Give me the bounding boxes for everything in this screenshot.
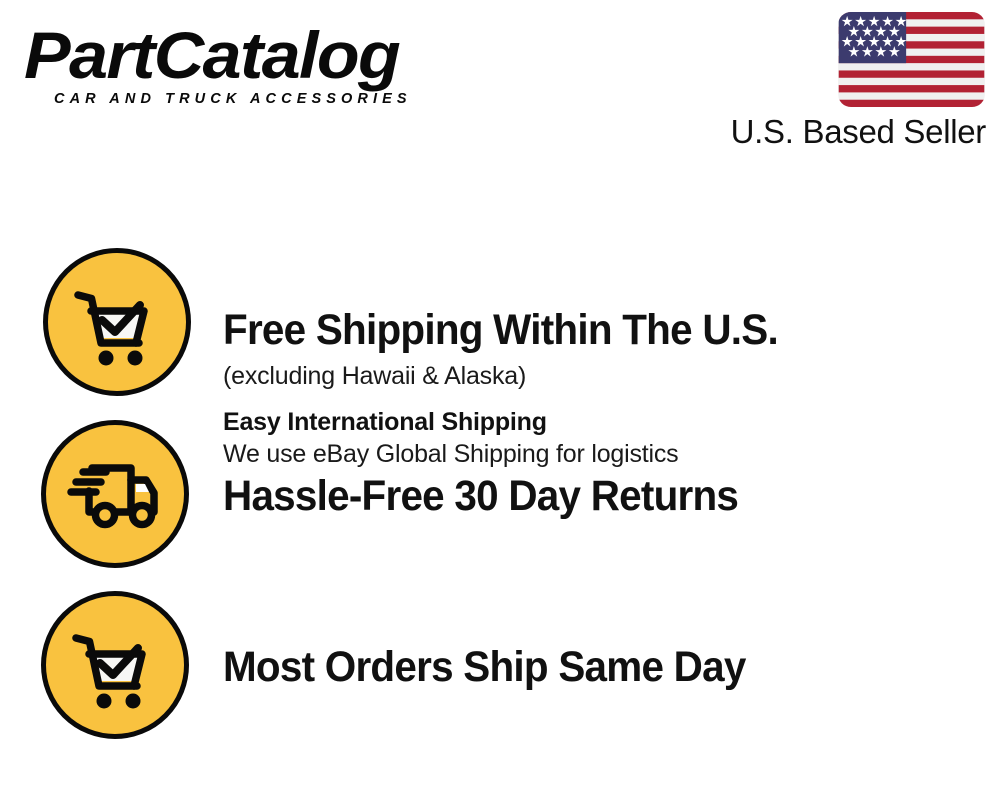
feature-text-block: Most Orders Ship Same Day [223, 643, 983, 691]
delivery-truck-icon [41, 420, 189, 568]
brand-tagline: CAR AND TRUCK ACCESSORIES [54, 91, 494, 107]
page-header: PartCatalog CAR AND TRUCK ACCESSORIES [0, 0, 1000, 170]
brand-wordmark: PartCatalog [24, 22, 522, 88]
feature-text-block: Free Shipping Within The U.S. (excluding… [223, 306, 983, 470]
feature-text-block: Hassle-Free 30 Day Returns [223, 472, 983, 520]
feature-title: Hassle-Free 30 Day Returns [223, 472, 937, 520]
feature-secondary-detail: We use eBay Global Shipping for logistic… [223, 438, 983, 470]
us-flag-icon [838, 12, 985, 107]
shopping-cart-check-icon [41, 591, 189, 739]
shopping-cart-check-icon [43, 248, 191, 396]
us-based-seller-label: U.S. Based Seller [731, 113, 986, 151]
feature-secondary-heading: Easy International Shipping [223, 406, 983, 438]
brand-logo[interactable]: PartCatalog CAR AND TRUCK ACCESSORIES [24, 22, 494, 107]
feature-title: Most Orders Ship Same Day [223, 643, 937, 691]
feature-subtitle: (excluding Hawaii & Alaska) [223, 360, 983, 392]
feature-title: Free Shipping Within The U.S. [223, 306, 937, 354]
